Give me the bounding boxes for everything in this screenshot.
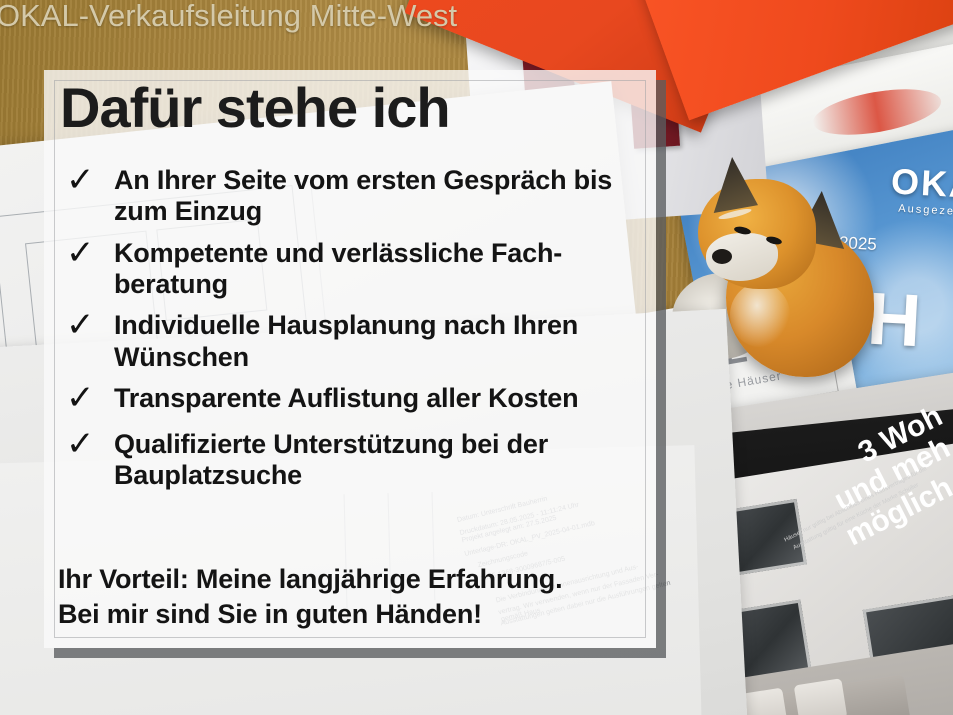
header-title: OKAL-Verkaufsleitung Mitte-West: [0, 0, 457, 34]
list-item: ✓ Transparente Auflistung aller Kosten: [58, 383, 642, 419]
page-title: Dafür stehe ich: [60, 80, 450, 136]
list-item-label: Kompetente und verlässliche Fach- beratu…: [114, 238, 642, 301]
list-item: ✓ An Ihrer Seite vom ersten Gespräch bis…: [58, 165, 642, 228]
checkmark-icon: ✓: [58, 236, 114, 272]
closing-line-2: Bei mir sind Sie in guten Händen!: [58, 597, 642, 632]
fox-chest: [730, 283, 790, 347]
list-item: ✓ Qualifizierte Unterstützung bei der Ba…: [58, 429, 642, 492]
list-item: ✓ Individuelle Hausplanung nach Ihren Wü…: [58, 310, 642, 373]
list-item: ✓ Kompetente und verlässliche Fach- bera…: [58, 238, 642, 301]
brochure-cushion-2: [794, 678, 848, 715]
brochure-brand-subtitle: Ausgezeich: [898, 203, 953, 219]
list-item-label: Qualifizierte Unterstützung bei der Baup…: [114, 429, 642, 492]
closing-line-1: Ihr Vorteil: Meine langjährige Erfahrung…: [58, 562, 642, 597]
list-item-label: Transparente Auflistung aller Kosten: [114, 383, 642, 414]
brochure-brand: OKA: [890, 160, 953, 206]
checkmark-icon: ✓: [58, 381, 114, 417]
benefits-list: ✓ An Ihrer Seite vom ersten Gespräch bis…: [58, 165, 642, 501]
checkmark-icon: ✓: [58, 308, 114, 344]
slide-canvas: 15.03. – 31.12.2025 OKA Ausgezeich MEH O…: [0, 0, 953, 715]
checkmark-icon: ✓: [58, 427, 114, 463]
list-item-label: An Ihrer Seite vom ersten Gespräch bis z…: [114, 165, 642, 228]
checkmark-icon: ✓: [58, 163, 114, 199]
list-item-label: Individuelle Hausplanung nach Ihren Wüns…: [114, 310, 642, 373]
closing-statement: Ihr Vorteil: Meine langjährige Erfahrung…: [58, 562, 642, 631]
content-overlay-panel: Dafür stehe ich ✓ An Ihrer Seite vom ers…: [44, 70, 656, 648]
fox-nose: [712, 249, 732, 264]
